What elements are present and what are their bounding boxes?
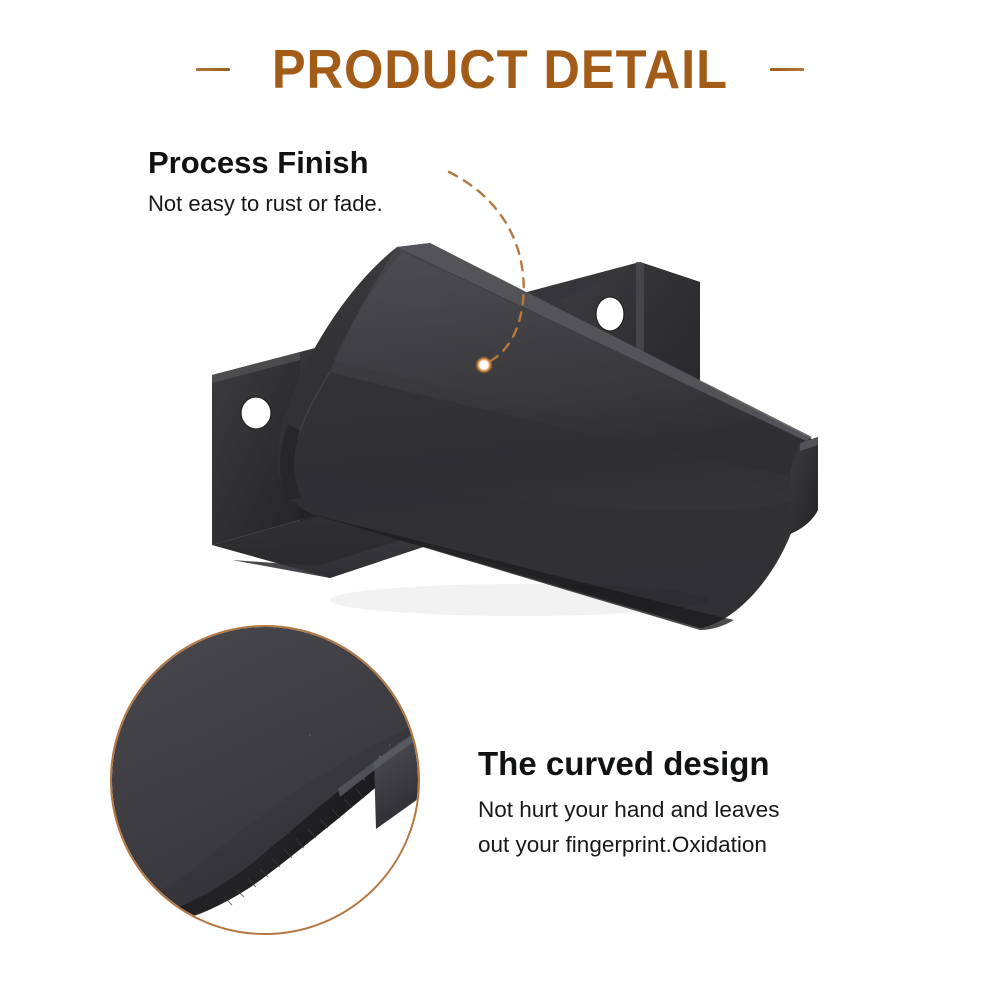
callout-process-body: Not easy to rust or fade. (148, 189, 383, 219)
screw-hole-rear-left (241, 397, 271, 429)
callout-process-heading: Process Finish (148, 146, 383, 180)
front-handle-right-flange (790, 437, 818, 534)
callout-leader-line (449, 172, 524, 363)
callout-curved-body-line2: out your fingerprint.Oxidation (478, 829, 779, 860)
front-handle (277, 243, 818, 630)
front-handle-left-end (280, 424, 302, 500)
callout-process-finish: Process Finish Not easy to rust or fade. (148, 146, 383, 219)
callout-marker-dot (475, 356, 493, 374)
page-header: PRODUCT DETAIL (0, 36, 1000, 102)
product-detail-infographic: PRODUCT DETAIL (0, 0, 1000, 1000)
header-rule-left (196, 68, 230, 71)
page-title: PRODUCT DETAIL (272, 42, 728, 97)
callout-curved-body-line1: Not hurt your hand and leaves (478, 794, 779, 825)
rear-handle (212, 262, 700, 578)
header-rule-right (770, 68, 804, 71)
callout-curved-design: The curved design Not hurt your hand and… (478, 746, 779, 860)
callout-curved-heading: The curved design (478, 746, 779, 782)
macro-edge-closeup-circle (110, 625, 420, 935)
macro-edge-artwork (112, 627, 418, 933)
screw-hole-rear-right (596, 297, 624, 331)
